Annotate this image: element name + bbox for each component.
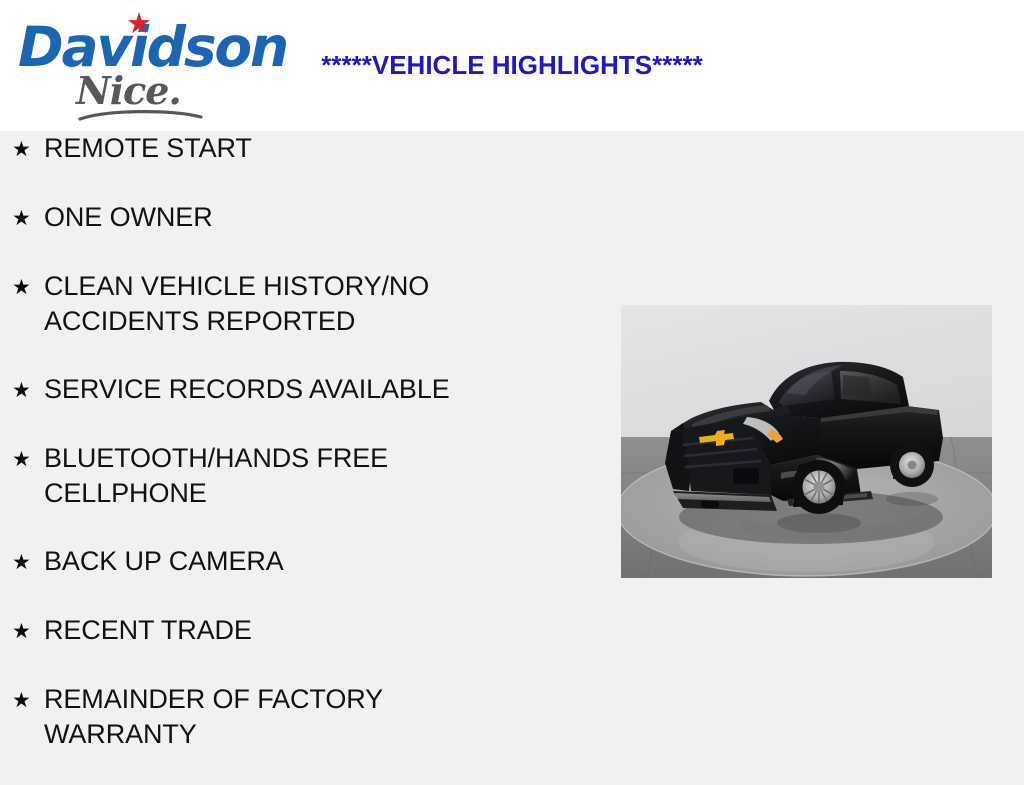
list-item: ★ BLUETOOTH/HANDS FREE CELLPHONE — [0, 441, 600, 511]
list-item: ★ CLEAN VEHICLE HISTORY/NO ACCIDENTS REP… — [0, 269, 600, 339]
list-item-label: REMOTE START — [44, 131, 494, 166]
list-item-label: BACK UP CAMERA — [44, 544, 494, 579]
list-item: ★ REMOTE START — [0, 131, 600, 167]
logo-swoosh-underline — [78, 108, 203, 122]
star-bullet-icon: ★ — [12, 682, 44, 718]
list-item-label: RECENT TRADE — [44, 613, 494, 648]
star-bullet-icon: ★ — [12, 372, 44, 408]
list-item: ★ SERVICE RECORDS AVAILABLE — [0, 372, 600, 408]
list-item: ★ RECENT TRADE — [0, 613, 600, 649]
star-bullet-icon: ★ — [12, 131, 44, 167]
star-bullet-icon: ★ — [12, 544, 44, 580]
list-item: ★ BACK UP CAMERA — [0, 544, 600, 580]
star-bullet-icon: ★ — [12, 613, 44, 649]
logo-star-icon: ★ — [126, 10, 152, 39]
list-item-label: CLEAN VEHICLE HISTORY/NO ACCIDENTS REPOR… — [44, 269, 494, 339]
list-item-label: ONE OWNER — [44, 200, 494, 235]
page-title: *****VEHICLE HIGHLIGHTS***** — [0, 50, 1024, 81]
list-item-label: REMAINDER OF FACTORY WARRANTY — [44, 682, 494, 752]
list-item-label: SERVICE RECORDS AVAILABLE — [44, 372, 494, 407]
vehicle-highlights-page: Davidson ★ Nice. *****VEHICLE HIGHLIGHTS… — [0, 0, 1024, 768]
vehicle-photo[interactable] — [621, 305, 992, 578]
star-bullet-icon: ★ — [12, 269, 44, 305]
star-bullet-icon: ★ — [12, 441, 44, 477]
highlights-list: ★ REMOTE START ★ ONE OWNER ★ CLEAN VEHIC… — [0, 131, 600, 785]
list-item: ★ REMAINDER OF FACTORY WARRANTY — [0, 682, 600, 752]
list-item-label: BLUETOOTH/HANDS FREE CELLPHONE — [44, 441, 494, 511]
star-bullet-icon: ★ — [12, 200, 44, 236]
list-item: ★ ONE OWNER — [0, 200, 600, 236]
